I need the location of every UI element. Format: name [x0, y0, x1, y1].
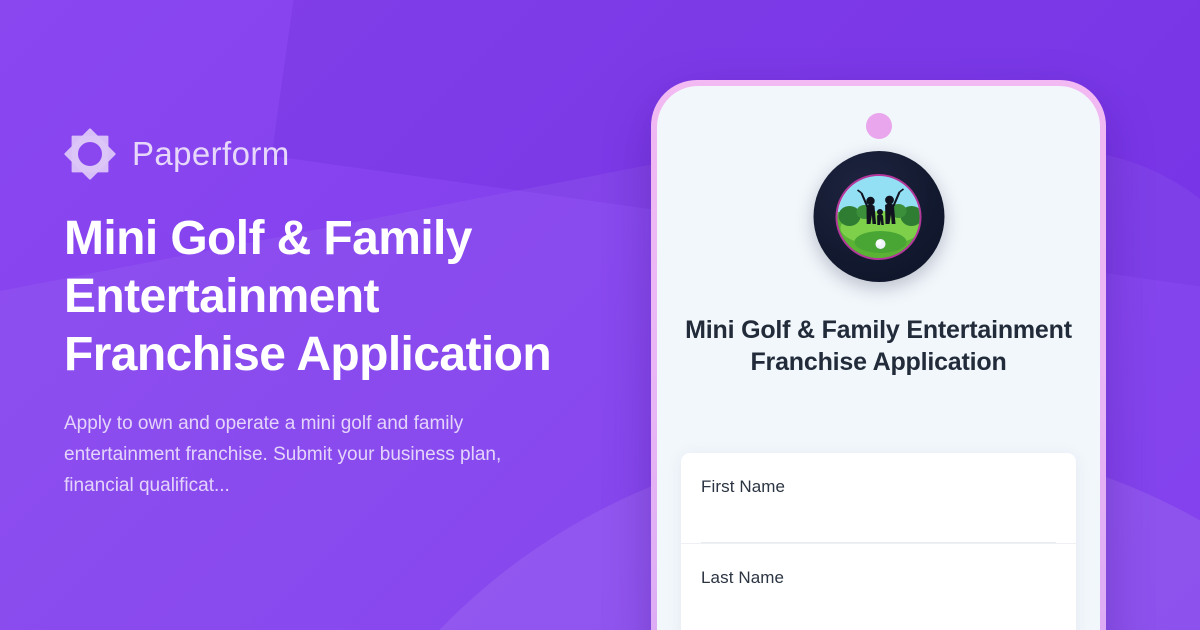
field-last-name[interactable]: Last Name	[681, 543, 1076, 630]
field-label: First Name	[701, 477, 1056, 497]
mini-golf-family-avatar-icon	[813, 151, 944, 282]
brand-name: Paperform	[132, 135, 290, 173]
page-title: Mini Golf & Family Entertainment Franchi…	[64, 210, 604, 383]
form-title: Mini Golf & Family Entertainment Franchi…	[657, 314, 1100, 378]
camera-dot-icon	[866, 113, 892, 139]
field-first-name[interactable]: First Name	[681, 453, 1076, 543]
paperform-star-logo-icon	[64, 128, 116, 180]
brand-lockup: Paperform	[64, 128, 664, 180]
field-label: Last Name	[701, 568, 1056, 588]
phone-mockup: Mini Golf & Family Entertainment Franchi…	[651, 80, 1106, 630]
hero-panel: Paperform Mini Golf & Family Entertainme…	[64, 0, 664, 630]
phone-screen: Mini Golf & Family Entertainment Franchi…	[657, 86, 1100, 630]
hero-description: Apply to own and operate a mini golf and…	[64, 409, 554, 501]
form-card: First Name Last Name	[681, 453, 1076, 630]
